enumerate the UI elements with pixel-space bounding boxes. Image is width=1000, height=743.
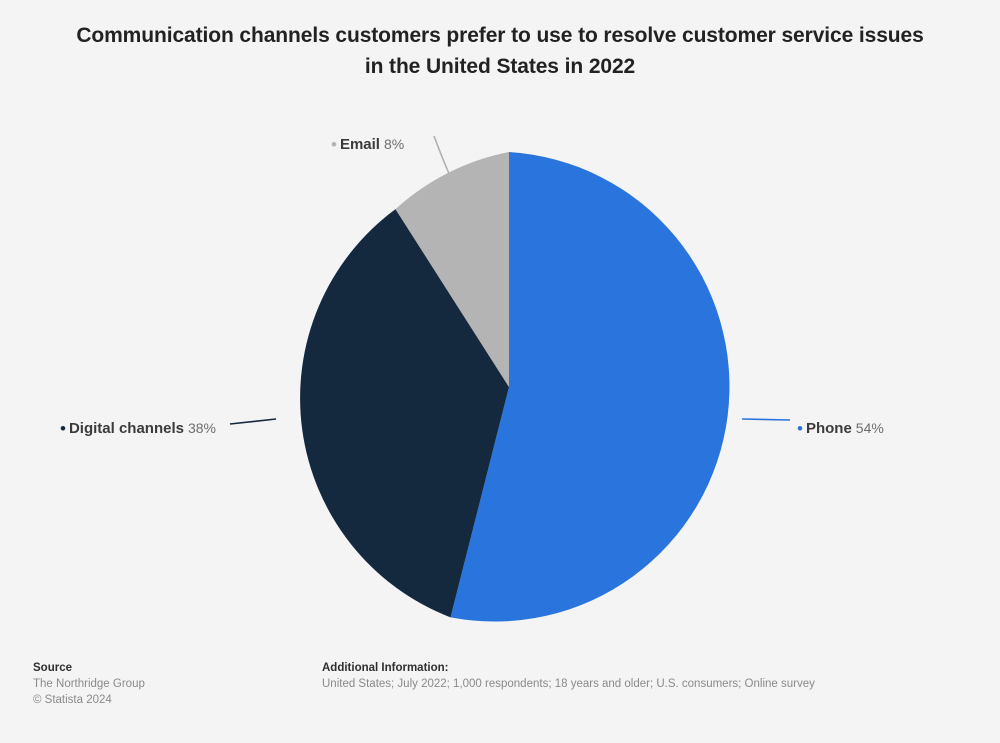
pie-label-email-value: 8% bbox=[384, 136, 404, 152]
pie-chart-area: •Phone54% •Digital channels38% •Email8% bbox=[0, 0, 1000, 660]
legend-bullet-email: • bbox=[331, 136, 337, 153]
pie-label-phone[interactable]: •Phone54% bbox=[797, 419, 884, 438]
statista-pie-chart: Communication channels customers prefer … bbox=[0, 0, 1000, 743]
additional-information-text: United States; July 2022; 1,000 responde… bbox=[322, 676, 815, 692]
source-name[interactable]: The Northridge Group bbox=[33, 676, 145, 692]
additional-information-block: Additional Information: United States; J… bbox=[322, 660, 815, 692]
pie-label-email-name: Email bbox=[340, 136, 380, 153]
legend-bullet-digital-channels: • bbox=[60, 420, 66, 437]
leader-line-digital-channels bbox=[230, 419, 276, 424]
pie-label-digital-channels-value: 38% bbox=[188, 420, 216, 436]
chart-footer: Source The Northridge Group © Statista 2… bbox=[0, 655, 1000, 743]
pie-chart-svg bbox=[0, 0, 1000, 660]
pie-label-phone-value: 54% bbox=[856, 420, 884, 436]
leader-line-phone bbox=[742, 419, 790, 420]
pie-label-email[interactable]: •Email8% bbox=[331, 135, 404, 154]
pie-label-digital-channels-name: Digital channels bbox=[69, 420, 184, 437]
pie-label-phone-name: Phone bbox=[806, 420, 852, 437]
legend-bullet-phone: • bbox=[797, 420, 803, 437]
copyright-text: © Statista 2024 bbox=[33, 692, 145, 708]
pie-label-digital-channels[interactable]: •Digital channels38% bbox=[60, 419, 216, 438]
source-heading: Source bbox=[33, 660, 145, 676]
additional-information-heading: Additional Information: bbox=[322, 660, 815, 676]
source-block: Source The Northridge Group © Statista 2… bbox=[33, 660, 145, 708]
